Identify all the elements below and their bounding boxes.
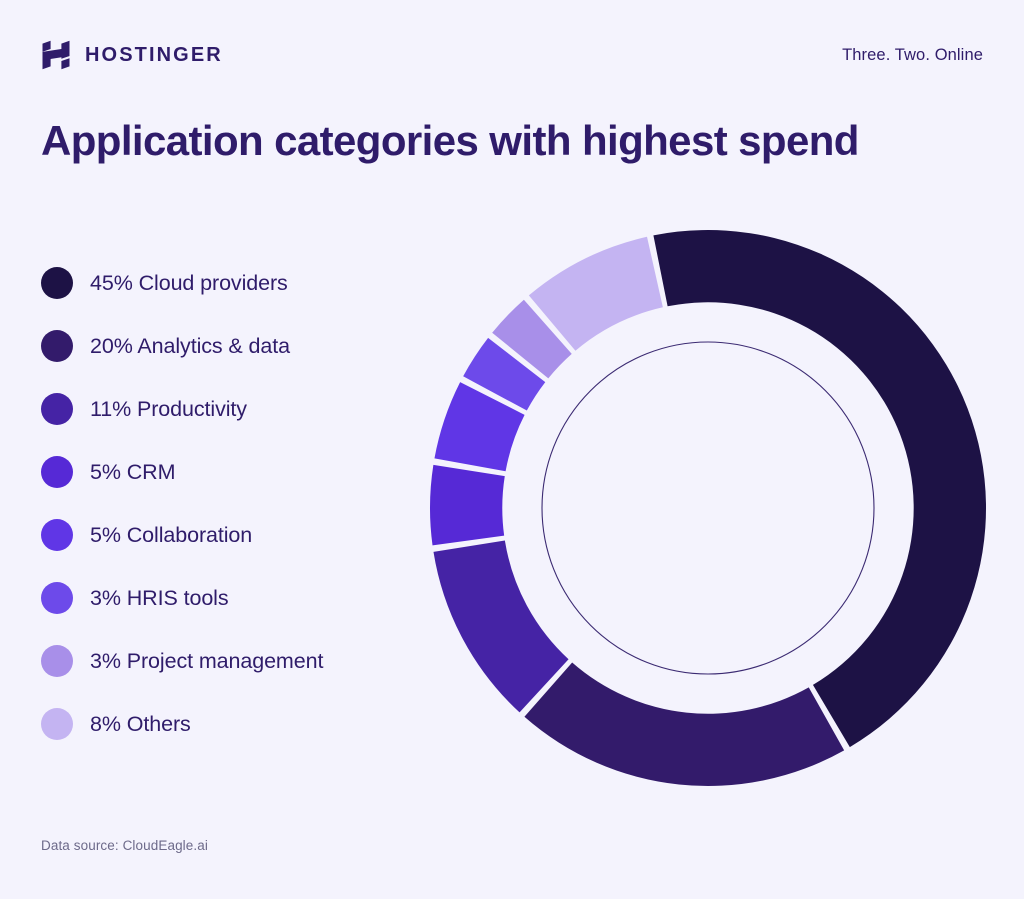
legend-color-swatch xyxy=(41,267,73,299)
legend-color-swatch xyxy=(41,645,73,677)
legend-color-swatch xyxy=(41,582,73,614)
legend-item-label: 3% Project management xyxy=(90,649,323,674)
donut-chart xyxy=(424,224,992,792)
legend-color-swatch xyxy=(41,330,73,362)
brand-name: HOSTINGER xyxy=(85,44,223,67)
legend-item[interactable]: 8% Others xyxy=(41,703,411,745)
legend-item-label: 11% Productivity xyxy=(90,397,247,422)
legend-item-label: 20% Analytics & data xyxy=(90,334,290,359)
donut-inner-outline-circle xyxy=(542,342,874,674)
legend-color-swatch xyxy=(41,393,73,425)
data-source-note: Data source: CloudEagle.ai xyxy=(41,838,208,853)
donut-slice[interactable] xyxy=(433,540,568,712)
legend-item[interactable]: 5% CRM xyxy=(41,451,411,493)
legend-item[interactable]: 5% Collaboration xyxy=(41,514,411,556)
legend-color-swatch xyxy=(41,708,73,740)
page-header: HOSTINGER Three. Two. Online xyxy=(41,40,983,78)
chart-legend: 45% Cloud providers20% Analytics & data1… xyxy=(41,262,411,766)
brand[interactable]: HOSTINGER xyxy=(41,40,223,70)
legend-item[interactable]: 20% Analytics & data xyxy=(41,325,411,367)
donut-slice[interactable] xyxy=(524,662,844,786)
legend-color-swatch xyxy=(41,456,73,488)
legend-item[interactable]: 45% Cloud providers xyxy=(41,262,411,304)
hostinger-h-logo-icon xyxy=(41,40,71,70)
legend-item-label: 3% HRIS tools xyxy=(90,586,229,611)
donut-slice-group xyxy=(430,230,986,786)
legend-item[interactable]: 3% Project management xyxy=(41,640,411,682)
brand-tagline: Three. Two. Online xyxy=(842,46,983,65)
legend-item[interactable]: 3% HRIS tools xyxy=(41,577,411,619)
page-title: Application categories with highest spen… xyxy=(41,117,859,165)
donut-slice[interactable] xyxy=(430,465,505,546)
legend-item-label: 5% CRM xyxy=(90,460,175,485)
legend-item-label: 5% Collaboration xyxy=(90,523,252,548)
donut-slice[interactable] xyxy=(653,230,986,747)
legend-item-label: 8% Others xyxy=(90,712,191,737)
legend-color-swatch xyxy=(41,519,73,551)
legend-item[interactable]: 11% Productivity xyxy=(41,388,411,430)
legend-item-label: 45% Cloud providers xyxy=(90,271,288,296)
